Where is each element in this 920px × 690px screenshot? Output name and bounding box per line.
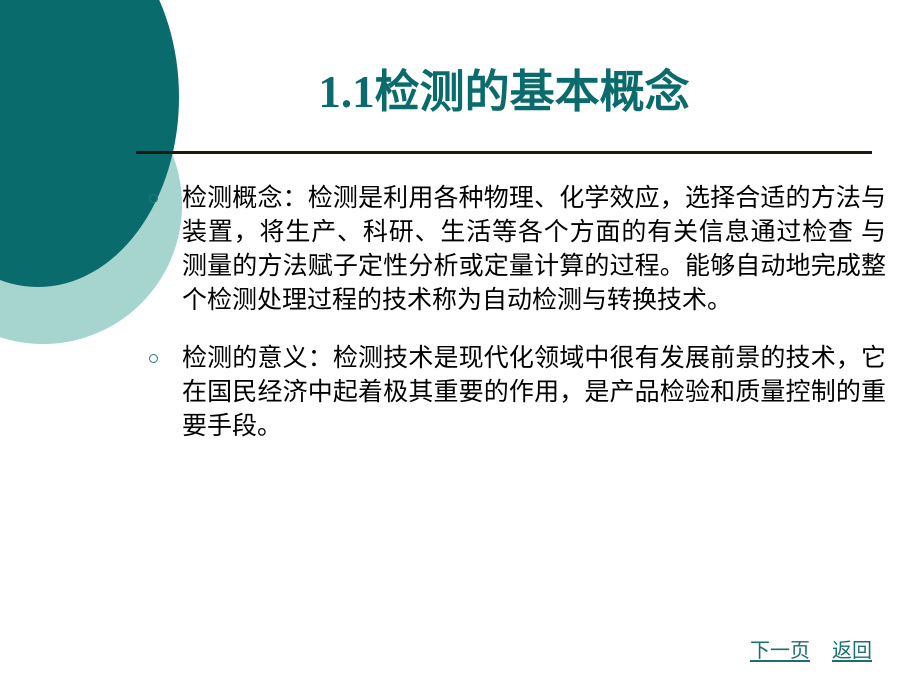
body-content: 检测概念：检测是利用各种物理、化学效应，选择合适的方法与装置，将生产、科研、生活… xyxy=(146,182,886,468)
list-item-text: 检测概念：检测是利用各种物理、化学效应，选择合适的方法与装置，将生产、科研、生活… xyxy=(182,182,886,318)
list-item: 检测概念：检测是利用各种物理、化学效应，选择合适的方法与装置，将生产、科研、生活… xyxy=(146,182,886,318)
hollow-circle-icon xyxy=(149,354,158,363)
title-block: 1.1检测的基本概念 xyxy=(136,62,872,122)
back-link[interactable]: 返回 xyxy=(832,639,872,663)
hollow-circle-icon xyxy=(149,194,158,203)
title-divider xyxy=(136,151,872,154)
list-item-text: 检测的意义：检测技术是现代化领域中很有发展前景的技术，它在国民经济中起着极其重要… xyxy=(182,342,886,444)
slide-canvas: 1.1检测的基本概念 检测概念：检测是利用各种物理、化学效应，选择合适的方法与装… xyxy=(0,0,920,690)
page-title: 1.1检测的基本概念 xyxy=(136,62,872,122)
list-item: 检测的意义：检测技术是现代化领域中很有发展前景的技术，它在国民经济中起着极其重要… xyxy=(146,342,886,444)
footer-navigation: 下一页 返回 xyxy=(750,639,872,663)
next-page-link[interactable]: 下一页 xyxy=(750,639,810,663)
